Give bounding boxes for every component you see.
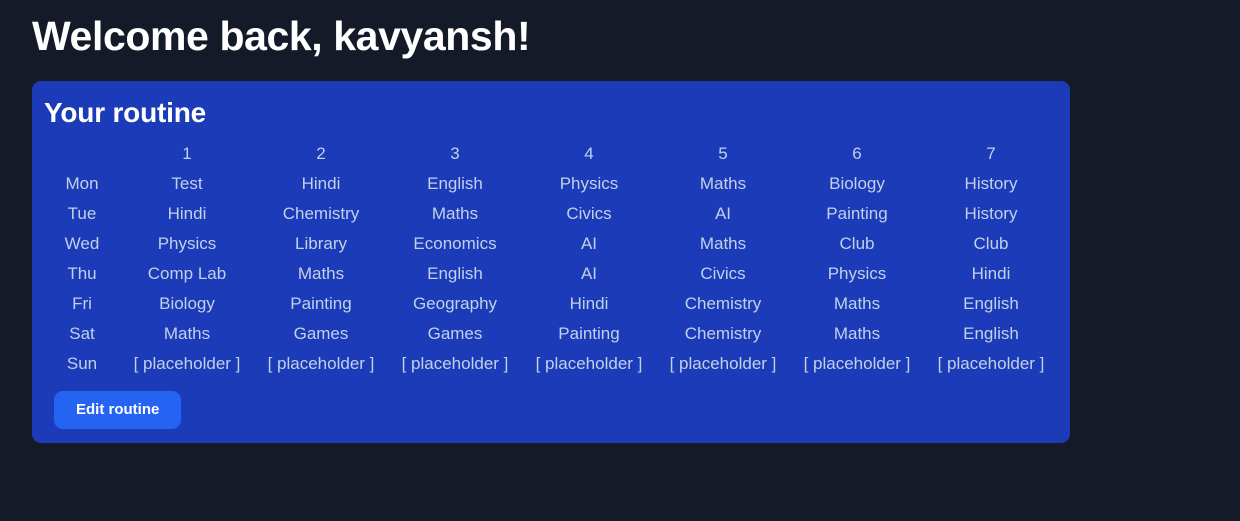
- slot-sat-1: Maths: [120, 319, 254, 349]
- slot-sun-4: [ placeholder ]: [522, 349, 656, 379]
- slot-wed-7: Club: [924, 229, 1058, 259]
- slot-tue-3: Maths: [388, 199, 522, 229]
- slot-mon-7: History: [924, 169, 1058, 199]
- routine-table: 1 2 3 4 5 6 7 Mon Test Hindi English Phy…: [44, 139, 1058, 379]
- slot-mon-3: English: [388, 169, 522, 199]
- slot-thu-4: AI: [522, 259, 656, 289]
- slot-thu-6: Physics: [790, 259, 924, 289]
- day-label-sat: Sat: [44, 319, 120, 349]
- period-header-4: 4: [522, 139, 656, 169]
- slot-thu-7: Hindi: [924, 259, 1058, 289]
- slot-wed-5: Maths: [656, 229, 790, 259]
- slot-tue-4: Civics: [522, 199, 656, 229]
- slot-sun-5: [ placeholder ]: [656, 349, 790, 379]
- table-corner-cell: [44, 139, 120, 169]
- slot-mon-5: Maths: [656, 169, 790, 199]
- slot-sun-6: [ placeholder ]: [790, 349, 924, 379]
- period-header-row: 1 2 3 4 5 6 7: [44, 139, 1058, 169]
- slot-fri-1: Biology: [120, 289, 254, 319]
- period-header-5: 5: [656, 139, 790, 169]
- day-label-tue: Tue: [44, 199, 120, 229]
- slot-tue-7: History: [924, 199, 1058, 229]
- slot-mon-1: Test: [120, 169, 254, 199]
- slot-mon-4: Physics: [522, 169, 656, 199]
- slot-mon-2: Hindi: [254, 169, 388, 199]
- slot-fri-3: Geography: [388, 289, 522, 319]
- slot-tue-6: Painting: [790, 199, 924, 229]
- slot-sun-2: [ placeholder ]: [254, 349, 388, 379]
- slot-fri-5: Chemistry: [656, 289, 790, 319]
- dashboard-page: Welcome back, kavyansh! Your routine 1 2…: [0, 0, 1240, 521]
- slot-sun-3: [ placeholder ]: [388, 349, 522, 379]
- slot-wed-1: Physics: [120, 229, 254, 259]
- slot-fri-4: Hindi: [522, 289, 656, 319]
- slot-sun-7: [ placeholder ]: [924, 349, 1058, 379]
- edit-routine-button[interactable]: Edit routine: [54, 391, 181, 429]
- slot-tue-1: Hindi: [120, 199, 254, 229]
- table-row: Sun [ placeholder ] [ placeholder ] [ pl…: [44, 349, 1058, 379]
- slot-wed-3: Economics: [388, 229, 522, 259]
- slot-thu-2: Maths: [254, 259, 388, 289]
- day-label-wed: Wed: [44, 229, 120, 259]
- table-row: Fri Biology Painting Geography Hindi Che…: [44, 289, 1058, 319]
- period-header-7: 7: [924, 139, 1058, 169]
- slot-fri-6: Maths: [790, 289, 924, 319]
- day-label-sun: Sun: [44, 349, 120, 379]
- day-label-fri: Fri: [44, 289, 120, 319]
- slot-sat-4: Painting: [522, 319, 656, 349]
- day-label-thu: Thu: [44, 259, 120, 289]
- slot-wed-2: Library: [254, 229, 388, 259]
- table-row: Tue Hindi Chemistry Maths Civics AI Pain…: [44, 199, 1058, 229]
- routine-table-body: Mon Test Hindi English Physics Maths Bio…: [44, 169, 1058, 379]
- slot-thu-3: English: [388, 259, 522, 289]
- slot-tue-5: AI: [656, 199, 790, 229]
- slot-sat-6: Maths: [790, 319, 924, 349]
- slot-sat-5: Chemistry: [656, 319, 790, 349]
- slot-wed-4: AI: [522, 229, 656, 259]
- period-header-1: 1: [120, 139, 254, 169]
- table-row: Thu Comp Lab Maths English AI Civics Phy…: [44, 259, 1058, 289]
- slot-sat-7: English: [924, 319, 1058, 349]
- slot-thu-5: Civics: [656, 259, 790, 289]
- table-row: Sat Maths Games Games Painting Chemistry…: [44, 319, 1058, 349]
- period-header-3: 3: [388, 139, 522, 169]
- routine-card-title: Your routine: [44, 93, 1058, 133]
- slot-wed-6: Club: [790, 229, 924, 259]
- slot-tue-2: Chemistry: [254, 199, 388, 229]
- routine-table-head: 1 2 3 4 5 6 7: [44, 139, 1058, 169]
- slot-sun-1: [ placeholder ]: [120, 349, 254, 379]
- slot-thu-1: Comp Lab: [120, 259, 254, 289]
- slot-sat-2: Games: [254, 319, 388, 349]
- routine-card: Your routine 1 2 3 4 5 6 7: [32, 81, 1070, 443]
- slot-fri-7: English: [924, 289, 1058, 319]
- period-header-6: 6: [790, 139, 924, 169]
- page-title: Welcome back, kavyansh!: [32, 0, 1208, 64]
- slot-sat-3: Games: [388, 319, 522, 349]
- period-header-2: 2: [254, 139, 388, 169]
- table-row: Wed Physics Library Economics AI Maths C…: [44, 229, 1058, 259]
- day-label-mon: Mon: [44, 169, 120, 199]
- slot-mon-6: Biology: [790, 169, 924, 199]
- slot-fri-2: Painting: [254, 289, 388, 319]
- table-row: Mon Test Hindi English Physics Maths Bio…: [44, 169, 1058, 199]
